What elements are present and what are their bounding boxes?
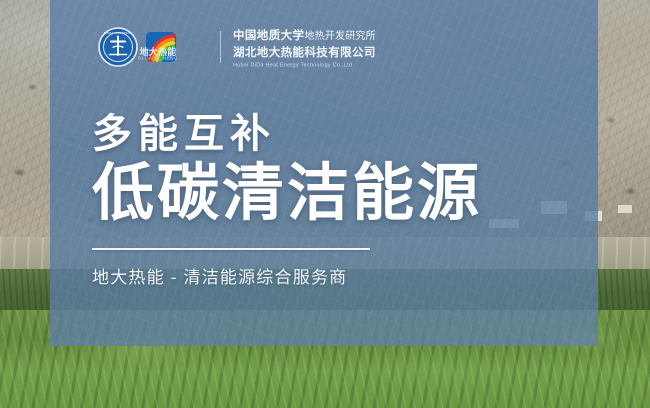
headline-primary: 低碳清洁能源 [92, 160, 562, 228]
headline-tagline: 地大热能 - 清洁能源综合服务商 [92, 263, 562, 288]
org-line-1-sub: 地热开发研究所 [304, 31, 375, 42]
org-line-3-english: Hubei DiDa Heat Energy Technology Co.,Lt… [233, 62, 402, 68]
logo-company-caption: 地大热能 DI DA RE NENG [136, 48, 180, 61]
headline-secondary: 多能互补 [92, 112, 562, 157]
org-line-1: 中国地质大学地热开发研究所 [233, 27, 376, 43]
org-line-1-main: 中国地质大学 [233, 30, 304, 42]
organization-text: 中国地质大学地热开发研究所 湖北地大热能科技有限公司 Hubei DiDa He… [233, 27, 376, 67]
promo-banner: CHINA UNIVERSITY 中国地质大学地热开发研究所 湖北地大热能科技有… [0, 0, 650, 408]
org-line-2: 湖北地大热能科技有限公司 [233, 44, 376, 60]
headline-block: 多能互补 低碳清洁能源 地大热能 - 清洁能源综合服务商 [92, 112, 562, 288]
svg-text:CHINA UNIVERSITY: CHINA UNIVERSITY [104, 31, 132, 35]
logo-company-pinyin: DI DA RE NENG [129, 57, 186, 62]
headline-divider-rule [92, 248, 370, 250]
header-vertical-divider [220, 31, 221, 63]
